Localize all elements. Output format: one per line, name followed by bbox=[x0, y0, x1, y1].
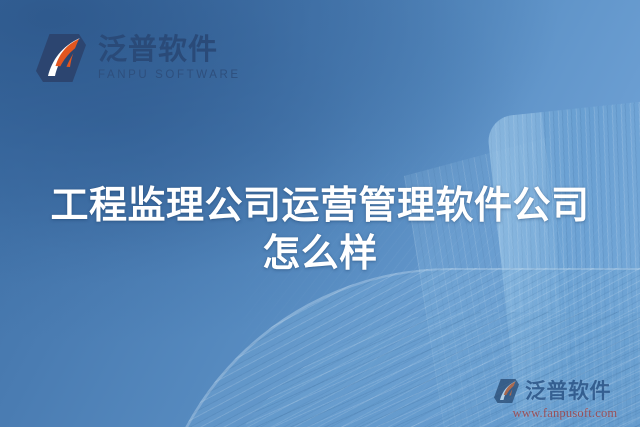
brand-logo: 泛普软件 FANPU SOFTWARE bbox=[36, 32, 241, 84]
fanpu-hexagon-sail-logo-icon bbox=[494, 378, 520, 404]
headline: 工程监理公司运营管理软件公司 怎么样 bbox=[0, 182, 640, 276]
brand-name-en: FANPU SOFTWARE bbox=[98, 69, 241, 81]
watermark-logo-row: 泛普软件 bbox=[494, 378, 636, 404]
headline-line-2: 怎么样 bbox=[18, 230, 622, 276]
watermark-name-cn: 泛普软件 bbox=[525, 381, 611, 402]
fanpu-hexagon-sail-logo-icon bbox=[36, 32, 88, 84]
watermark-url: www.fanpusoft.com bbox=[494, 406, 636, 421]
brand-wordmark: 泛普软件 FANPU SOFTWARE bbox=[98, 35, 241, 81]
watermark: 泛普软件 www.fanpusoft.com bbox=[494, 378, 636, 421]
promo-banner: 泛普软件 FANPU SOFTWARE 工程监理公司运营管理软件公司 怎么样 泛… bbox=[0, 0, 640, 427]
headline-line-1: 工程监理公司运营管理软件公司 bbox=[18, 182, 622, 228]
brand-name-cn: 泛普软件 bbox=[98, 35, 241, 65]
